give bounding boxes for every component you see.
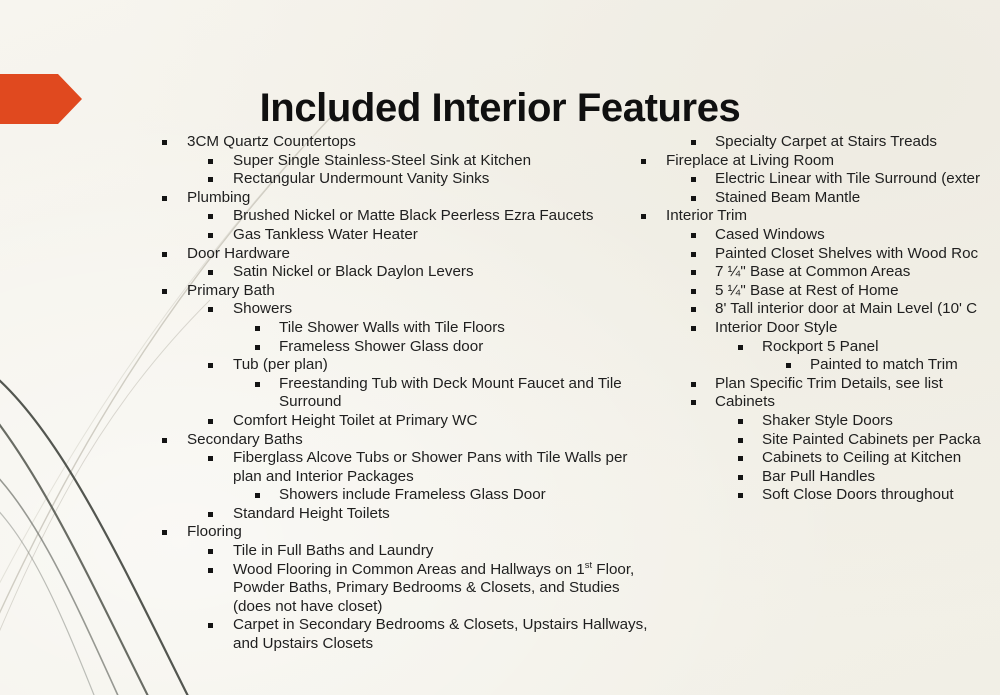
right-feature-column: Specialty Carpet at Stairs TreadsFirepla… (634, 133, 1000, 505)
list-item-label: Fireplace at Living Room (634, 152, 1000, 171)
square-bullet-icon (738, 438, 743, 443)
list-item: Plan Specific Trim Details, see list (634, 375, 1000, 394)
list-item-label: Rockport 5 Panel (634, 338, 1000, 357)
square-bullet-icon (691, 382, 696, 387)
square-bullet-icon (691, 252, 696, 257)
list-item-label: Carpet in Secondary Bedrooms & Closets, … (155, 616, 655, 653)
list-item-label: Door Hardware (155, 245, 655, 264)
list-item-label: Site Painted Cabinets per Packa (634, 431, 1000, 450)
list-item-label: Cased Windows (634, 226, 1000, 245)
square-bullet-icon (691, 326, 696, 331)
list-item-label: Cabinets to Ceiling at Kitchen (634, 449, 1000, 468)
list-item: Wood Flooring in Common Areas and Hallwa… (155, 561, 655, 617)
list-item: 8' Tall interior door at Main Level (10'… (634, 300, 1000, 319)
square-bullet-icon (255, 326, 260, 331)
list-item: Gas Tankless Water Heater (155, 226, 655, 245)
list-item-label: Interior Door Style (634, 319, 1000, 338)
list-item: Door Hardware (155, 245, 655, 264)
list-item-label: Super Single Stainless-Steel Sink at Kit… (155, 152, 655, 171)
list-item-label: Rectangular Undermount Vanity Sinks (155, 170, 655, 189)
list-item: Site Painted Cabinets per Packa (634, 431, 1000, 450)
list-item-label: Shaker Style Doors (634, 412, 1000, 431)
list-item-label: Secondary Baths (155, 431, 655, 450)
list-item: Tile in Full Baths and Laundry (155, 542, 655, 561)
list-item: Bar Pull Handles (634, 468, 1000, 487)
list-item: Electric Linear with Tile Surround (exte… (634, 170, 1000, 189)
list-item-label: Painted to match Trim (634, 356, 1000, 375)
square-bullet-icon (162, 252, 167, 257)
list-item-label: Tub (per plan) (155, 356, 655, 375)
list-item-label: Brushed Nickel or Matte Black Peerless E… (155, 207, 655, 226)
left-feature-list: 3CM Quartz CountertopsSuper Single Stain… (155, 133, 655, 654)
square-bullet-icon (255, 493, 260, 498)
right-feature-list: Specialty Carpet at Stairs TreadsFirepla… (634, 133, 1000, 505)
list-item-label: Fiberglass Alcove Tubs or Shower Pans wi… (155, 449, 655, 486)
list-item: Interior Trim (634, 207, 1000, 226)
list-item-label: Painted Closet Shelves with Wood Roc (634, 245, 1000, 264)
square-bullet-icon (208, 512, 213, 517)
list-item-label: Satin Nickel or Black Daylon Levers (155, 263, 655, 282)
list-item-label: Plan Specific Trim Details, see list (634, 375, 1000, 394)
list-item-label: 3CM Quartz Countertops (155, 133, 655, 152)
list-item-label: Tile in Full Baths and Laundry (155, 542, 655, 561)
square-bullet-icon (691, 177, 696, 182)
list-item: Rockport 5 Panel (634, 338, 1000, 357)
list-item: Plumbing (155, 189, 655, 208)
square-bullet-icon (208, 159, 213, 164)
list-item: Cabinets (634, 393, 1000, 412)
list-item: 3CM Quartz Countertops (155, 133, 655, 152)
page-title: Included Interior Features (0, 84, 1000, 132)
list-item: Showers include Frameless Glass Door (155, 486, 655, 505)
list-item-label: Bar Pull Handles (634, 468, 1000, 487)
list-item: Brushed Nickel or Matte Black Peerless E… (155, 207, 655, 226)
square-bullet-icon (208, 419, 213, 424)
square-bullet-icon (641, 214, 646, 219)
list-item: Rectangular Undermount Vanity Sinks (155, 170, 655, 189)
list-item-label: Freestanding Tub with Deck Mount Faucet … (155, 375, 655, 412)
list-item-label: Showers include Frameless Glass Door (155, 486, 655, 505)
square-bullet-icon (208, 214, 213, 219)
list-item-label: Cabinets (634, 393, 1000, 412)
square-bullet-icon (208, 307, 213, 312)
square-bullet-icon (691, 307, 696, 312)
square-bullet-icon (738, 493, 743, 498)
list-item: Tile Shower Walls with Tile Floors (155, 319, 655, 338)
square-bullet-icon (162, 438, 167, 443)
square-bullet-icon (691, 140, 696, 145)
list-item-label: Stained Beam Mantle (634, 189, 1000, 208)
list-item-label: Electric Linear with Tile Surround (exte… (634, 170, 1000, 189)
list-item-label: 8' Tall interior door at Main Level (10'… (634, 300, 1000, 319)
list-item: Shaker Style Doors (634, 412, 1000, 431)
square-bullet-icon (162, 530, 167, 535)
list-item-label: Interior Trim (634, 207, 1000, 226)
list-item: Carpet in Secondary Bedrooms & Closets, … (155, 616, 655, 653)
square-bullet-icon (691, 289, 696, 294)
list-item-label: Plumbing (155, 189, 655, 208)
square-bullet-icon (162, 140, 167, 145)
left-feature-column: 3CM Quartz CountertopsSuper Single Stain… (155, 133, 655, 654)
list-item: Fiberglass Alcove Tubs or Shower Pans wi… (155, 449, 655, 486)
square-bullet-icon (208, 623, 213, 628)
square-bullet-icon (255, 345, 260, 350)
square-bullet-icon (208, 568, 213, 573)
square-bullet-icon (208, 233, 213, 238)
list-item-label: Flooring (155, 523, 655, 542)
list-item: Standard Height Toilets (155, 505, 655, 524)
list-item: Fireplace at Living Room (634, 152, 1000, 171)
list-item: Super Single Stainless-Steel Sink at Kit… (155, 152, 655, 171)
list-item-label: 5 ¼" Base at Rest of Home (634, 282, 1000, 301)
list-item: Painted Closet Shelves with Wood Roc (634, 245, 1000, 264)
list-item: 5 ¼" Base at Rest of Home (634, 282, 1000, 301)
list-item: 7 ¼" Base at Common Areas (634, 263, 1000, 282)
list-item: Cabinets to Ceiling at Kitchen (634, 449, 1000, 468)
list-item-label: Primary Bath (155, 282, 655, 301)
square-bullet-icon (208, 549, 213, 554)
list-item: Satin Nickel or Black Daylon Levers (155, 263, 655, 282)
list-item: Specialty Carpet at Stairs Treads (634, 133, 1000, 152)
square-bullet-icon (162, 196, 167, 201)
square-bullet-icon (738, 419, 743, 424)
list-item-label: Soft Close Doors throughout (634, 486, 1000, 505)
list-item: Primary Bath (155, 282, 655, 301)
list-item: Freestanding Tub with Deck Mount Faucet … (155, 375, 655, 412)
square-bullet-icon (208, 456, 213, 461)
square-bullet-icon (208, 270, 213, 275)
list-item: Secondary Baths (155, 431, 655, 450)
square-bullet-icon (162, 289, 167, 294)
list-item: Interior Door Style (634, 319, 1000, 338)
list-item: Soft Close Doors throughout (634, 486, 1000, 505)
list-item-label: Tile Shower Walls with Tile Floors (155, 319, 655, 338)
list-item-label: Wood Flooring in Common Areas and Hallwa… (155, 561, 655, 617)
list-item-label: Frameless Shower Glass door (155, 338, 655, 357)
list-item: Cased Windows (634, 226, 1000, 245)
list-item: Tub (per plan) (155, 356, 655, 375)
list-item-label: Comfort Height Toilet at Primary WC (155, 412, 655, 431)
slide-canvas: Included Interior Features 3CM Quartz Co… (0, 0, 1000, 695)
list-item: Flooring (155, 523, 655, 542)
square-bullet-icon (641, 159, 646, 164)
list-item: Showers (155, 300, 655, 319)
list-item: Painted to match Trim (634, 356, 1000, 375)
list-item: Comfort Height Toilet at Primary WC (155, 412, 655, 431)
square-bullet-icon (208, 177, 213, 182)
list-item: Frameless Shower Glass door (155, 338, 655, 357)
square-bullet-icon (208, 363, 213, 368)
square-bullet-icon (691, 196, 696, 201)
square-bullet-icon (255, 382, 260, 387)
square-bullet-icon (738, 456, 743, 461)
list-item-label: 7 ¼" Base at Common Areas (634, 263, 1000, 282)
list-item-label: Gas Tankless Water Heater (155, 226, 655, 245)
square-bullet-icon (691, 270, 696, 275)
square-bullet-icon (738, 475, 743, 480)
square-bullet-icon (786, 363, 791, 368)
list-item-label: Specialty Carpet at Stairs Treads (634, 133, 1000, 152)
square-bullet-icon (691, 233, 696, 238)
list-item-label: Showers (155, 300, 655, 319)
square-bullet-icon (738, 345, 743, 350)
list-item: Stained Beam Mantle (634, 189, 1000, 208)
list-item-label: Standard Height Toilets (155, 505, 655, 524)
square-bullet-icon (691, 400, 696, 405)
